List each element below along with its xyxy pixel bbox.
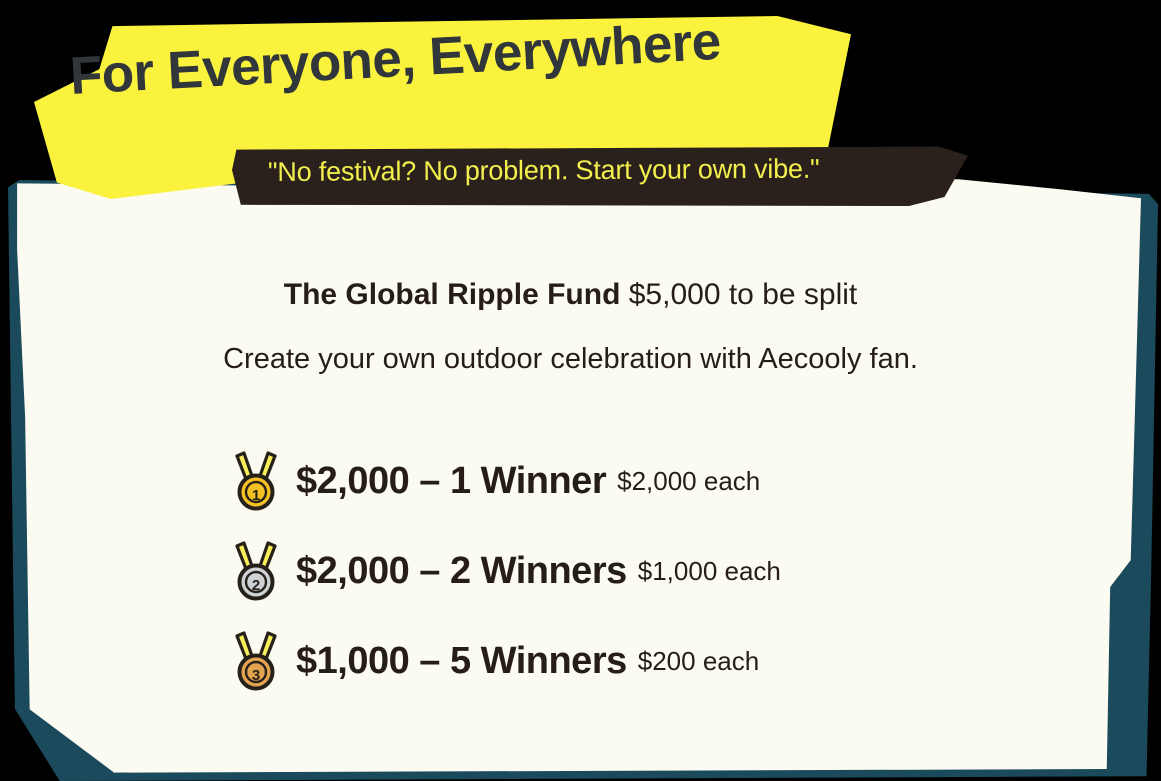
card-subtitle: Create your own outdoor celebration with… [0, 343, 1141, 376]
list-item: 3 $1,000 – 5 Winners $200 each [228, 616, 988, 706]
fund-line: The Global Ripple Fund $5,000 to be spli… [0, 278, 1141, 312]
prize-each: $200 each [638, 646, 759, 677]
promo-graphic: For Everyone, Everywhere "No festival? N… [0, 0, 1161, 781]
prize-amount-winners: $2,000 – 2 Winners [296, 550, 627, 593]
prize-amount-winners: $1,000 – 5 Winners [296, 640, 627, 683]
medal-place-number: 1 [252, 487, 260, 504]
list-item: 2 $2,000 – 2 Winners $1,000 each [228, 526, 988, 616]
gold-medal-icon: 1 [228, 450, 284, 512]
quote-text: "No festival? No problem. Start your own… [268, 153, 948, 188]
prize-amount-winners: $2,000 – 1 Winner [296, 460, 606, 503]
prize-each: $2,000 each [617, 466, 760, 497]
prize-each: $1,000 each [638, 556, 781, 587]
medal-place-number: 3 [252, 667, 260, 684]
bronze-medal-icon: 3 [228, 630, 284, 692]
silver-medal-icon: 2 [228, 540, 284, 602]
list-item: 1 $2,000 – 1 Winner $2,000 each [228, 436, 988, 526]
prize-list: 1 $2,000 – 1 Winner $2,000 each 2 $2,000… [228, 436, 988, 706]
medal-place-number: 2 [252, 577, 260, 594]
fund-amount: $5,000 to be split [620, 278, 857, 311]
fund-name: The Global Ripple Fund [284, 278, 621, 311]
